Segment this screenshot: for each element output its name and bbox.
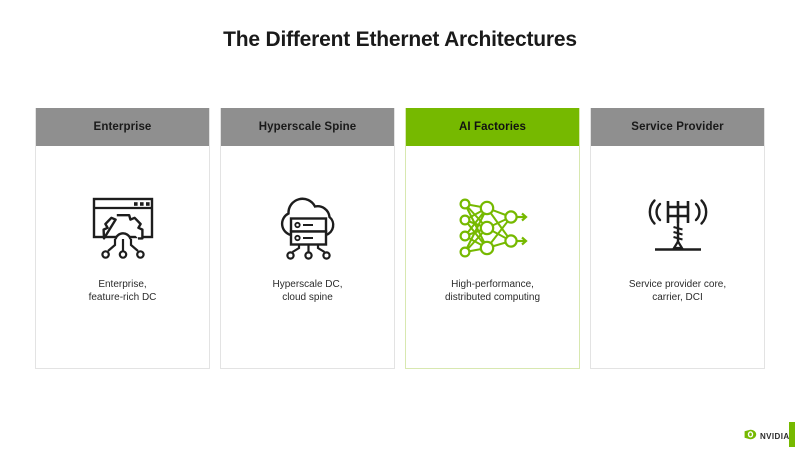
nvidia-eye-logo-icon (744, 427, 757, 445)
green-accent-bar (789, 422, 795, 447)
cell-tower-signal-icon (641, 194, 715, 262)
card-header-enterprise: Enterprise (36, 108, 209, 146)
card-hyperscale-spine[interactable]: Hyperscale Spine (220, 108, 395, 369)
card-header-service-provider: Service Provider (591, 108, 764, 146)
card-caption-service-provider: Service provider core, carrier, DCI (623, 278, 732, 304)
nvidia-wordmark: NVIDIA (760, 432, 790, 441)
card-body-ai-factories: High-performance, distributed computing (406, 146, 579, 368)
card-caption-hyperscale-spine: Hyperscale DC, cloud spine (266, 278, 348, 304)
architecture-card-row: Enterprise (35, 108, 765, 369)
browser-gear-circuit-icon (86, 194, 160, 262)
nvidia-logo: NVIDIA (744, 427, 790, 445)
neural-network-icon (454, 194, 532, 262)
card-caption-enterprise: Enterprise, feature-rich DC (83, 278, 163, 304)
card-body-hyperscale-spine: Hyperscale DC, cloud spine (221, 146, 394, 368)
card-header-ai-factories: AI Factories (406, 108, 579, 146)
card-header-hyperscale-spine: Hyperscale Spine (221, 108, 394, 146)
card-enterprise[interactable]: Enterprise (35, 108, 210, 369)
page-title: The Different Ethernet Architectures (0, 28, 800, 52)
cloud-server-circuit-icon (271, 194, 345, 262)
slide-canvas: The Different Ethernet Architectures Ent… (0, 0, 800, 450)
card-service-provider[interactable]: Service Provider (590, 108, 765, 369)
card-ai-factories[interactable]: AI Factories (405, 108, 580, 369)
card-body-enterprise: Enterprise, feature-rich DC (36, 146, 209, 368)
card-caption-ai-factories: High-performance, distributed computing (439, 278, 546, 304)
card-body-service-provider: Service provider core, carrier, DCI (591, 146, 764, 368)
